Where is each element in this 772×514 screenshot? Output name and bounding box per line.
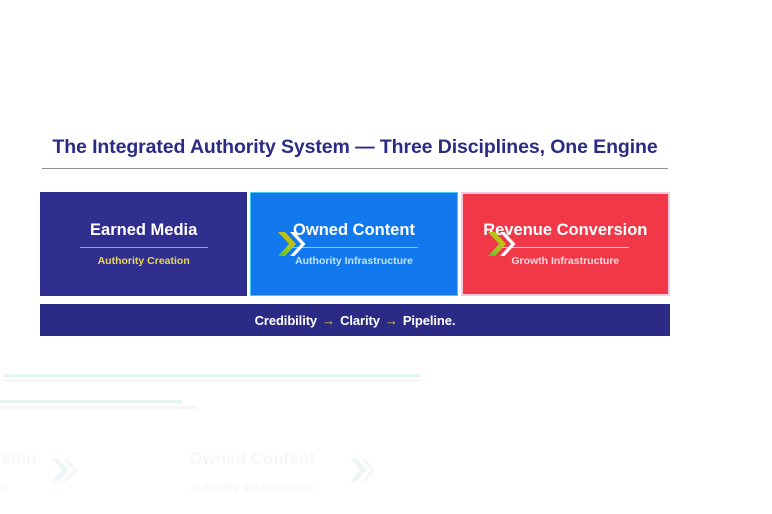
panel-revenue-conversion-subtitle: Growth Infrastructure <box>511 255 619 267</box>
panel-revenue-conversion[interactable]: Revenue Conversion Growth Infrastructure <box>461 192 670 296</box>
panel-earned-media-subtitle: Authority Creation <box>98 255 190 267</box>
summary-bar: Credibility → Clarity → Pipeline. <box>40 304 670 336</box>
panel-divider <box>290 247 418 248</box>
panel-divider <box>80 247 208 248</box>
slide-canvas: The Integrated Authority System — Three … <box>0 0 772 514</box>
summary-step-pipeline: Pipeline. <box>403 313 456 328</box>
title-underline-rule <box>42 168 668 169</box>
title-block: The Integrated Authority System — Three … <box>42 136 668 169</box>
right-arrow-icon: → <box>317 314 340 327</box>
panel-divider <box>501 247 629 248</box>
panel-earned-media[interactable]: Earned Media Authority Creation <box>40 192 247 296</box>
page-title: The Integrated Authority System — Three … <box>42 136 668 159</box>
panel-owned-content-subtitle: Authority Infrastructure <box>295 255 413 267</box>
panel-revenue-conversion-title: Revenue Conversion <box>483 221 647 240</box>
discipline-panels: Earned Media Authority Creation Owned Co… <box>40 192 670 296</box>
right-arrow-icon: → <box>380 314 403 327</box>
panel-earned-media-title: Earned Media <box>90 221 197 240</box>
summary-step-clarity: Clarity <box>340 313 380 328</box>
panel-owned-content[interactable]: Owned Content Authority Infrastructure <box>250 192 457 296</box>
panel-owned-content-title: Owned Content <box>293 221 415 240</box>
summary-step-credibility: Credibility <box>255 313 317 328</box>
